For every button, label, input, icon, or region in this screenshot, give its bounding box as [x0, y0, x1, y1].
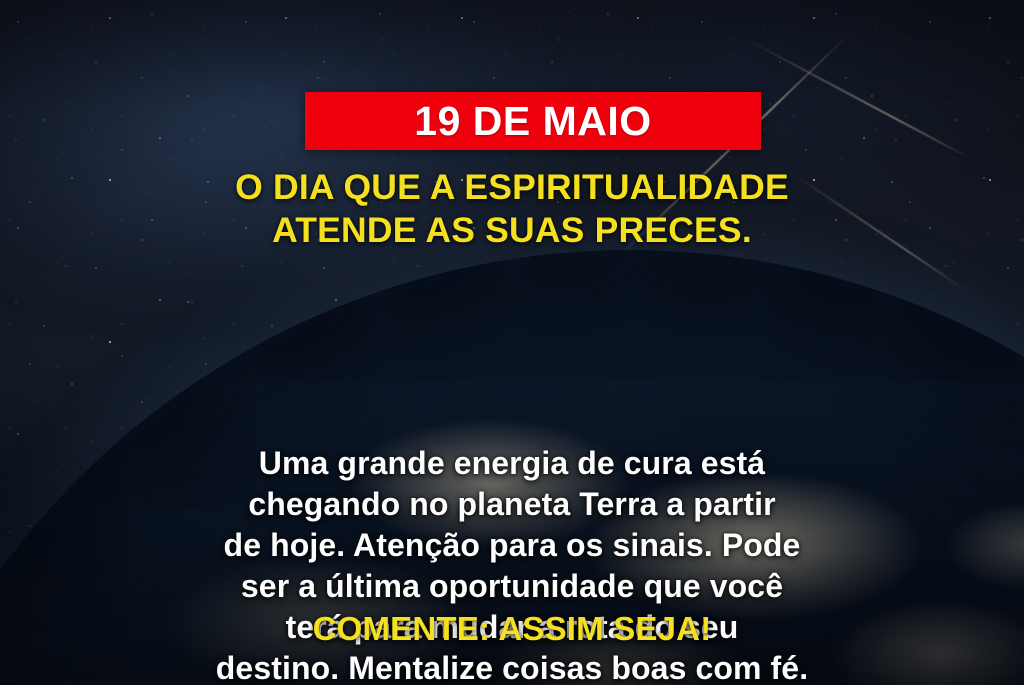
body-copy-line-3: de hoje. Atenção para os sinais. Pode	[46, 525, 978, 566]
headline-line-1: O DIA QUE A ESPIRITUALIDADE	[38, 166, 986, 209]
body-copy-line-4: ser a última oportunidade que você	[46, 566, 978, 607]
content-layer: 19 DE MAIO O DIA QUE A ESPIRITUALIDADE A…	[0, 0, 1024, 685]
body-copy-line-6: destino. Mentalize coisas boas com fé.	[46, 648, 978, 685]
call-to-action-label: COMENTE: ASSIM SEJA!	[0, 611, 1024, 647]
date-banner-label: 19 DE MAIO	[414, 101, 651, 142]
poster-canvas: 19 DE MAIO O DIA QUE A ESPIRITUALIDADE A…	[0, 0, 1024, 685]
headline: O DIA QUE A ESPIRITUALIDADE ATENDE AS SU…	[0, 166, 1024, 253]
body-copy-line-2: chegando no planeta Terra a partir	[46, 484, 978, 525]
headline-line-2: ATENDE AS SUAS PRECES.	[38, 209, 986, 252]
body-copy: Uma grande energia de cura está chegando…	[0, 443, 1024, 685]
date-banner: 19 DE MAIO	[305, 92, 761, 150]
body-copy-line-1: Uma grande energia de cura está	[46, 443, 978, 484]
